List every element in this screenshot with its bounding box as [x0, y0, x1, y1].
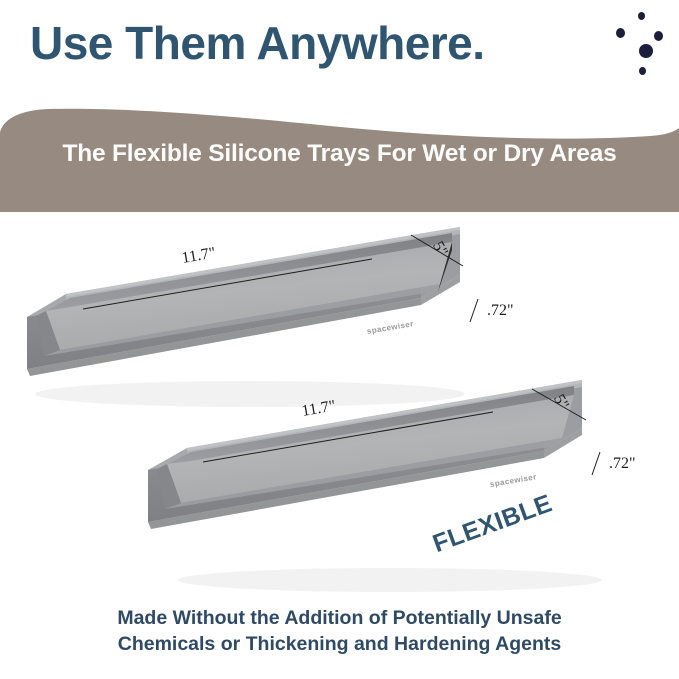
- dot-icon: [616, 28, 625, 38]
- dot-icon: [639, 67, 646, 75]
- footer-line-1: Made Without the Addition of Potentially…: [0, 606, 679, 632]
- banner-subtitle: The Flexible Silicone Trays For Wet or D…: [0, 140, 679, 168]
- upper-tray-height-label: .72": [487, 302, 514, 320]
- upper-tray: [27, 227, 465, 407]
- footer-claim: Made Without the Addition of Potentially…: [0, 606, 679, 657]
- dot-icon: [654, 31, 663, 41]
- product-scene: 11.7" 5" .72" spacewiser 11.7" 5" .72" s…: [0, 212, 679, 612]
- trays-illustration: [0, 212, 679, 612]
- dot-icon: [638, 12, 645, 20]
- footer-line-2: Chemicals or Thickening and Hardening Ag…: [0, 632, 679, 658]
- dot-cluster-decoration: [612, 12, 674, 78]
- dot-icon: [639, 44, 653, 58]
- subtitle-banner: The Flexible Silicone Trays For Wet or D…: [0, 96, 679, 212]
- product-infographic: Use Them Anywhere. The Flexible Silicone…: [0, 0, 679, 679]
- lower-tray-height-label: .72": [609, 455, 636, 473]
- lower-tray: [148, 380, 602, 592]
- page-title: Use Them Anywhere.: [30, 18, 485, 69]
